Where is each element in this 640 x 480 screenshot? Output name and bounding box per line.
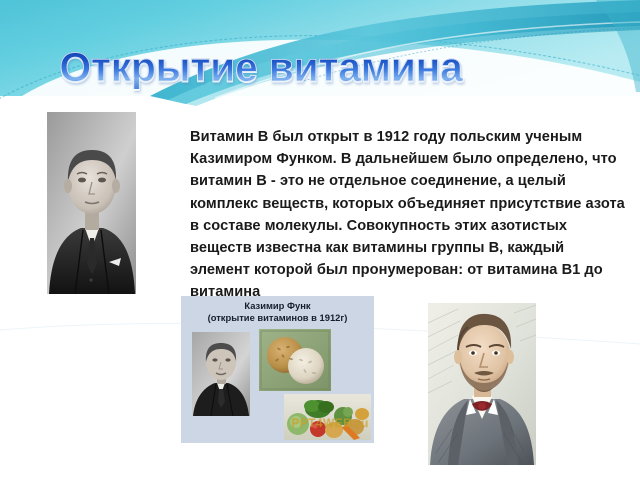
presentation-slide: Открытие витамина bbox=[0, 0, 640, 480]
inset-photo-grain bbox=[259, 329, 331, 391]
body-paragraph: Витамин В был открыт в 1912 году польски… bbox=[190, 126, 628, 304]
slide-title: Открытие витамина bbox=[59, 46, 462, 89]
portrait-right-engraving bbox=[428, 303, 536, 465]
inset-watermark: PPT4WEB.ru bbox=[286, 416, 374, 430]
inset-caption-line2: (открытие витаминов в 1912г) bbox=[181, 312, 374, 324]
inset-image-panel: Казимир Функ (открытие витаминов в 1912г… bbox=[181, 296, 374, 443]
inset-photo-scientist bbox=[192, 332, 250, 416]
inset-caption-line1: Казимир Функ bbox=[181, 300, 374, 312]
inset-caption: Казимир Функ (открытие витаминов в 1912г… bbox=[181, 296, 374, 324]
portrait-left-photo bbox=[47, 112, 136, 294]
title-container: Открытие витамина bbox=[0, 46, 640, 89]
